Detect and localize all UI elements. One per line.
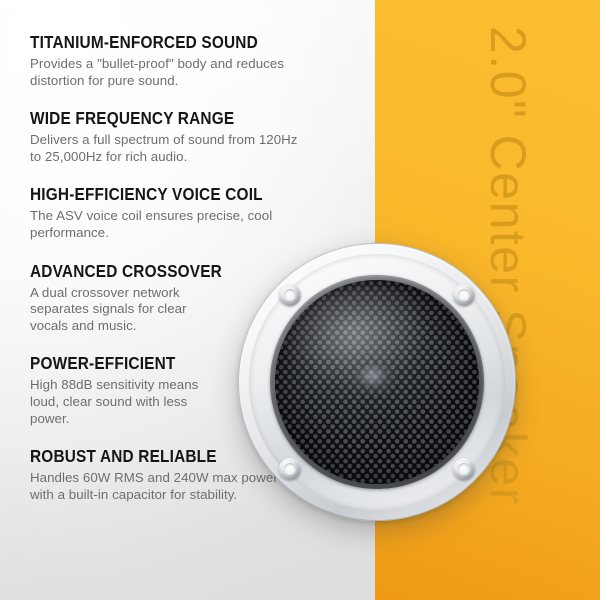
speaker-mounting-screw <box>279 458 301 480</box>
feature-body: High 88dB sensitivity means loud, clear … <box>30 377 210 427</box>
feature-title: WIDE FREQUENCY RANGE <box>30 108 285 128</box>
speaker-honeycomb-grille <box>275 280 479 484</box>
speaker-product-image <box>238 243 516 521</box>
feature-body: A dual crossover network separates signa… <box>30 285 205 335</box>
speaker-center-dome <box>351 364 403 400</box>
speaker-mounting-screw <box>453 284 475 306</box>
product-infographic: 2.0" Center Speaker TITANIUM-ENFORCED SO… <box>0 0 600 600</box>
feature-body: Delivers a full spectrum of sound from 1… <box>30 132 305 165</box>
feature-body: The ASV voice coil ensures precise, cool… <box>30 208 305 241</box>
feature-title: HIGH-EFFICIENCY VOICE COIL <box>30 184 285 204</box>
feature-item-wide-frequency-range: WIDE FREQUENCY RANGE Delivers a full spe… <box>30 108 320 165</box>
feature-item-titanium-enforced-sound: TITANIUM-ENFORCED SOUND Provides a "bull… <box>30 32 320 89</box>
feature-item-high-efficiency-voice-coil: HIGH-EFFICIENCY VOICE COIL The ASV voice… <box>30 184 320 241</box>
feature-body: Handles 60W RMS and 240W max power with … <box>30 470 305 503</box>
feature-title: TITANIUM-ENFORCED SOUND <box>30 32 285 52</box>
feature-title: ROBUST AND RELIABLE <box>30 446 285 466</box>
feature-title: ADVANCED CROSSOVER <box>30 261 285 281</box>
speaker-mounting-screw <box>453 458 475 480</box>
speaker-mounting-screw <box>279 284 301 306</box>
feature-body: Provides a "bullet-proof" body and reduc… <box>30 56 305 89</box>
